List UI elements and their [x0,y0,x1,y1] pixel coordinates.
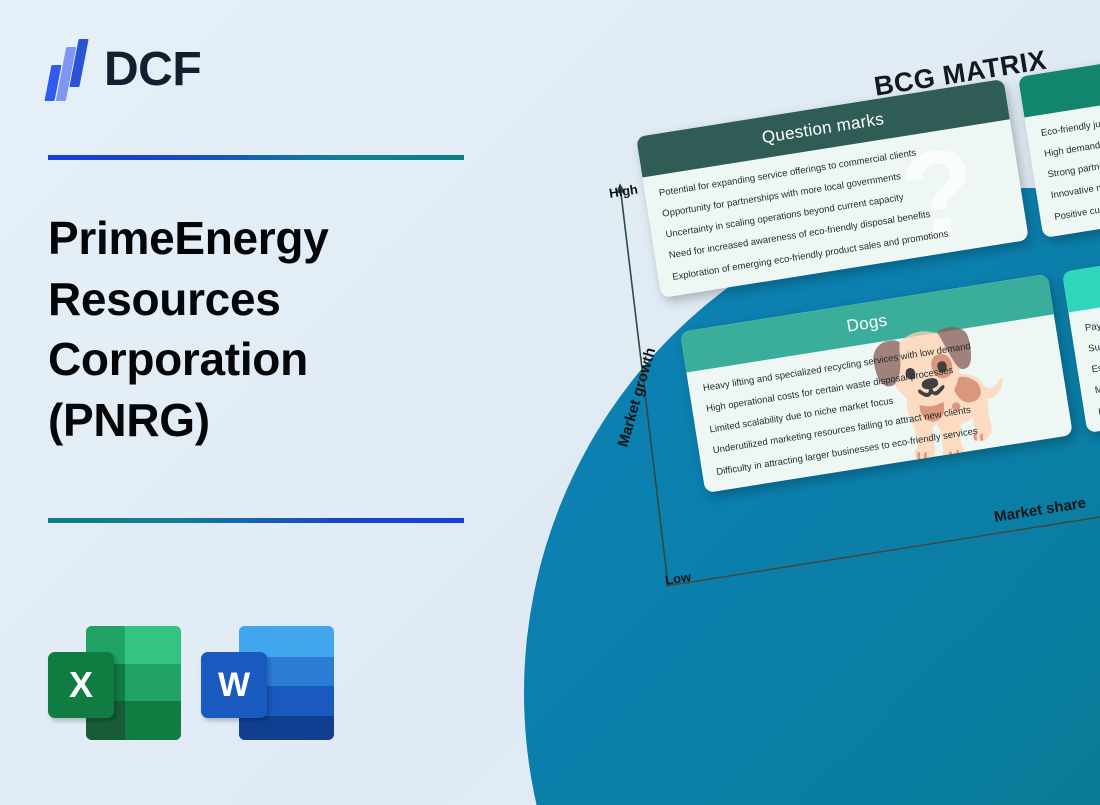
divider-bottom [48,518,464,523]
divider-top [48,155,464,160]
brand-logo-text: DCF [104,46,201,94]
page-title: PrimeEnergy Resources Corporation (PNRG) [48,208,478,451]
office-file-icons: X W [48,620,334,746]
quadrant-card-dogs[interactable]: Dogs 🐕 Heavy lifting and specialized rec… [680,274,1073,493]
left-info-panel: DCF PrimeEnergy Resources Corporation (P… [0,0,520,805]
word-icon-letter: W [201,652,267,718]
excel-icon-letter: X [48,652,114,718]
poster-page: High Low Market growth Market share BCG … [0,0,1100,805]
excel-icon[interactable]: X [48,620,181,746]
word-icon[interactable]: W [201,620,334,746]
dcf-bars-logo-icon [48,39,94,101]
quadrant-card-cash-cows[interactable]: Cash cows $ Pay-per-volume Subscription … [1062,214,1100,433]
quadrant-card-question-marks[interactable]: Question marks ? Potential for expanding… [636,79,1029,298]
brand-logo[interactable]: DCF [48,38,201,102]
